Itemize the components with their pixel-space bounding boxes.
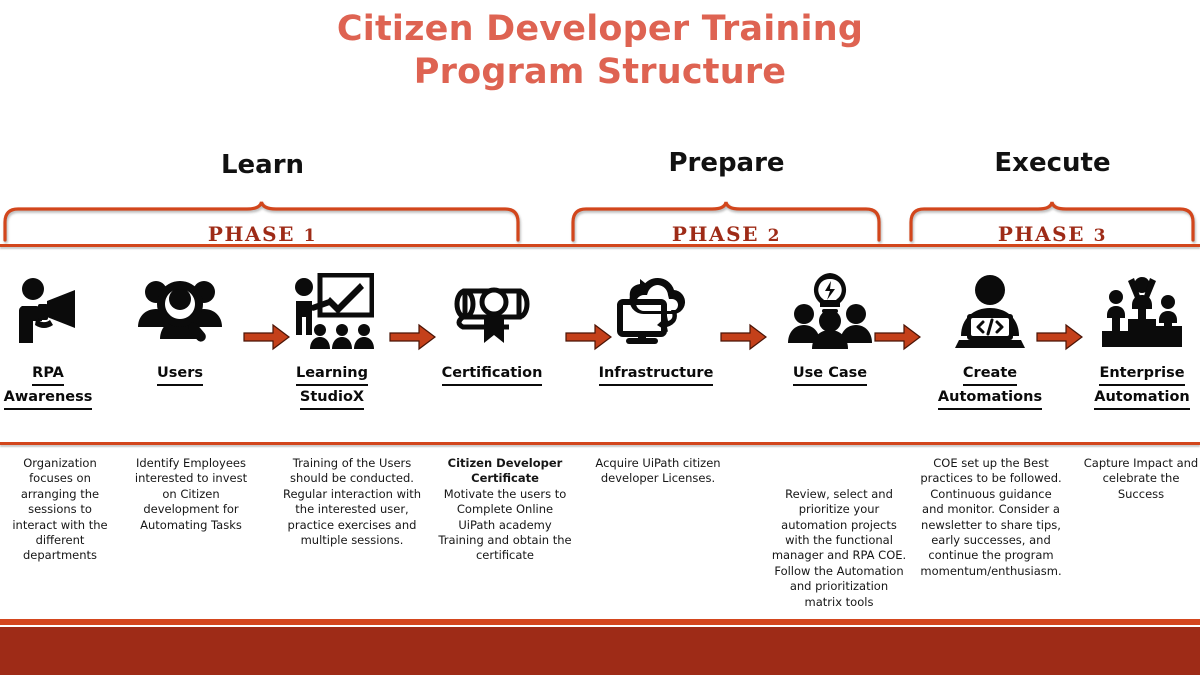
description-body: Organization focuses on arranging the se… — [4, 456, 116, 564]
step-learning-studiox[interactable]: Learning StudioX — [262, 272, 402, 432]
megaphone-person-icon — [0, 272, 118, 350]
step-label-learning-studiox: Learning StudioX — [262, 362, 402, 410]
step-label-line-1: Use Case — [793, 362, 867, 386]
step-label-line-1: Users — [157, 362, 203, 386]
step-enterprise-automation[interactable]: Enterprise Automation — [1072, 272, 1200, 432]
description-body: Acquire UiPath citizen developer License… — [592, 456, 724, 487]
step-label-line-1: Certification — [442, 362, 543, 386]
group-title-learn: Learn — [170, 150, 355, 180]
arrow-4 — [720, 322, 768, 352]
description-body: Identify Employees interested to invest … — [126, 456, 256, 533]
users-search-icon — [110, 272, 250, 350]
description-rpa-awareness: Organization focuses on arranging the se… — [4, 456, 116, 564]
step-label-rpa-awareness: RPA Awareness — [0, 362, 118, 410]
step-label-line-2: Automation — [1094, 386, 1190, 410]
step-create-automations[interactable]: Create Automations — [920, 272, 1060, 432]
description-body: Capture Impact and celebrate the Success — [1080, 456, 1200, 502]
step-label-line-2: Awareness — [4, 386, 93, 410]
phase-label-3-number: 3 — [1094, 226, 1107, 246]
arrow-1 — [243, 322, 291, 352]
description-certification: Citizen Developer Certificate Motivate t… — [437, 456, 573, 564]
step-rpa-awareness[interactable]: RPA Awareness — [0, 272, 118, 432]
step-row: RPA Awareness — [0, 272, 1200, 432]
phase-label-2: PHASE 2 — [634, 222, 819, 246]
group-title-prepare: Prepare — [634, 148, 819, 178]
step-label-infrastructure: Infrastructure — [586, 362, 726, 386]
phase-label-2-text: PHASE — [672, 222, 759, 246]
phase-label-3-text: PHASE — [998, 222, 1085, 246]
description-infrastructure: Acquire UiPath citizen developer License… — [592, 456, 724, 487]
step-label-line-1: Infrastructure — [599, 362, 714, 386]
phase-label-1: PHASE 1 — [170, 222, 355, 246]
description-learning-studiox: Training of the Users should be conducte… — [282, 456, 422, 548]
description-body: Training of the Users should be conducte… — [282, 456, 422, 548]
step-label-line-1: Learning — [296, 362, 368, 386]
phase-label-2-number: 2 — [768, 226, 781, 246]
step-label-line-1: Create — [963, 362, 1017, 386]
description-create-automations: COE set up the Best practices to be foll… — [920, 456, 1062, 579]
certificate-scroll-icon — [422, 272, 562, 350]
phase-label-3: PHASE 3 — [960, 222, 1145, 246]
divider-bottom — [0, 442, 1200, 445]
description-body: Motivate the users to Complete Online Ui… — [437, 487, 573, 564]
footer-accent-line — [0, 619, 1200, 625]
step-use-case[interactable]: Use Case — [760, 272, 900, 432]
description-heading: Citizen Developer Certificate — [437, 456, 573, 487]
divider-top — [0, 244, 1200, 247]
step-label-create-automations: Create Automations — [920, 362, 1060, 410]
description-use-case: Review, select and prioritize your autom… — [770, 456, 908, 625]
podium-winners-icon — [1072, 272, 1200, 350]
phase-label-1-number: 1 — [304, 226, 317, 246]
title-line-2: Program Structure — [0, 51, 1200, 94]
infographic-canvas: Citizen Developer Training Program Struc… — [0, 0, 1200, 675]
step-certification[interactable]: Certification — [422, 272, 562, 432]
step-label-line-1: RPA — [32, 362, 64, 386]
description-enterprise-automation: Capture Impact and celebrate the Success — [1080, 456, 1200, 502]
description-row: Organization focuses on arranging the se… — [0, 456, 1200, 616]
arrow-2 — [389, 322, 437, 352]
phase-label-1-text: PHASE — [208, 222, 295, 246]
step-label-line-1: Enterprise — [1099, 362, 1184, 386]
description-body: COE set up the Best practices to be foll… — [920, 456, 1062, 579]
step-label-line-2: StudioX — [300, 386, 364, 410]
group-title-execute: Execute — [960, 148, 1145, 178]
step-label-users: Users — [110, 362, 250, 386]
arrow-6 — [1036, 322, 1084, 352]
step-users[interactable]: Users — [110, 272, 250, 432]
step-label-enterprise-automation: Enterprise Automation — [1072, 362, 1200, 410]
footer-band — [0, 627, 1200, 675]
step-infrastructure[interactable]: Infrastructure — [586, 272, 726, 432]
description-users: Identify Employees interested to invest … — [126, 456, 256, 533]
step-label-certification: Certification — [422, 362, 562, 386]
step-label-use-case: Use Case — [760, 362, 900, 386]
title-line-1: Citizen Developer Training — [0, 8, 1200, 51]
description-body: Review, select and prioritize your autom… — [770, 487, 908, 610]
step-label-line-2: Automations — [938, 386, 1042, 410]
arrow-3 — [565, 322, 613, 352]
arrow-5 — [874, 322, 922, 352]
page-title: Citizen Developer Training Program Struc… — [0, 8, 1200, 94]
